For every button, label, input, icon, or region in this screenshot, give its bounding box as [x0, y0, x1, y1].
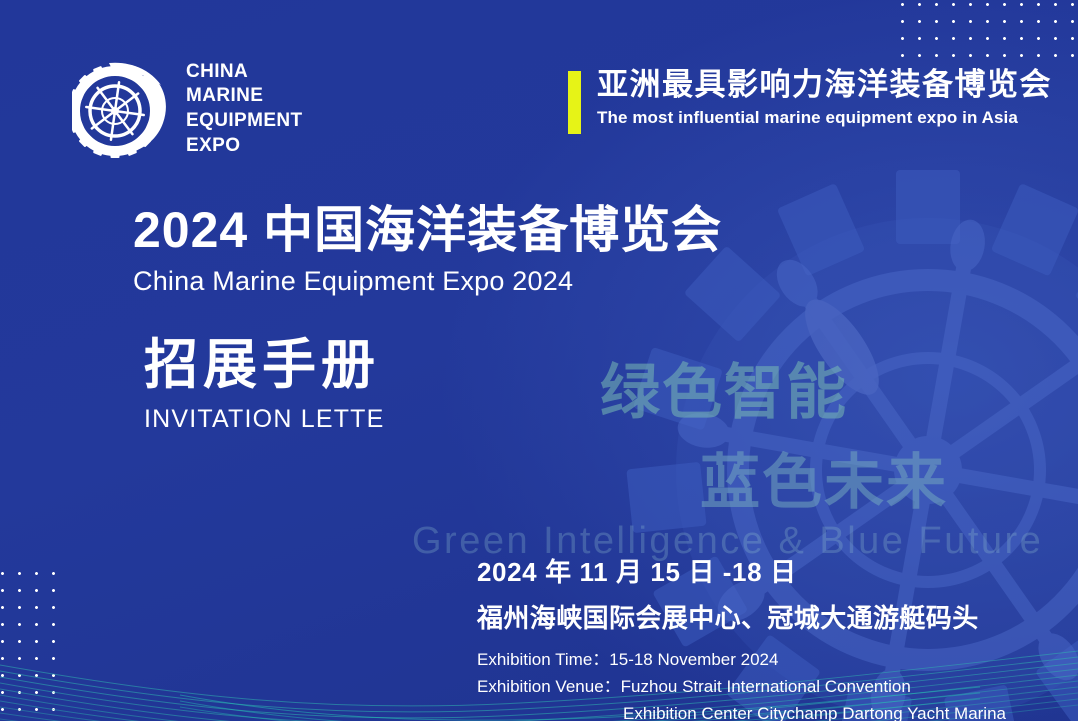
exhibition-venue-label: Exhibition Venue：	[477, 677, 621, 696]
exhibition-venue-line: Exhibition Venue：Fuzhou Strait Internati…	[477, 674, 1006, 701]
subtitle-chinese: 招展手册	[144, 336, 385, 395]
page-title-chinese: 2024 中国海洋装备博览会	[133, 202, 722, 258]
slogan-line-2: 蓝色未来	[700, 434, 948, 521]
slogan-line-1: 绿色智能	[600, 344, 848, 431]
brand-logo: CHINA MARINE EQUIPMENT EXPO	[72, 55, 303, 163]
dot-grid-bottom-left-icon	[0, 563, 64, 721]
subtitle-block: 招展手册 INVITATION LETTE	[144, 336, 385, 434]
poster-header: CHINA MARINE EQUIPMENT EXPO 亚洲最具影响力海洋装备博…	[0, 0, 1078, 185]
accent-bar	[568, 71, 581, 134]
tagline-english: The most influential marine equipment ex…	[597, 108, 1052, 128]
exhibition-time-value: 15-18 November 2024	[609, 650, 778, 669]
logo-line-2: MARINE	[186, 84, 303, 109]
brand-logo-text: CHINA MARINE EQUIPMENT EXPO	[186, 60, 303, 159]
exhibition-time-label: Exhibition Time：	[477, 650, 609, 669]
exhibition-venue-value-2: Exhibition Center Citychamp Dartong Yach…	[477, 701, 1006, 721]
header-tagline: 亚洲最具影响力海洋装备博览会 The most influential mari…	[568, 68, 1052, 134]
logo-line-3: EQUIPMENT	[186, 109, 303, 134]
logo-line-4: EXPO	[186, 134, 303, 159]
event-info-block: 2024 年 11 月 15 日 -18 日 福州海峡国际会展中心、冠城大通游艇…	[477, 552, 1006, 721]
page-title-english: China Marine Equipment Expo 2024	[133, 266, 722, 297]
logo-line-1: CHINA	[186, 60, 303, 85]
gear-ship-wheel-logo-icon	[72, 55, 172, 163]
poster-canvas: CHINA MARINE EQUIPMENT EXPO 亚洲最具影响力海洋装备博…	[0, 0, 1078, 721]
subtitle-english: INVITATION LETTE	[144, 405, 385, 434]
exhibition-time-line: Exhibition Time：15-18 November 2024	[477, 647, 1006, 674]
main-title-block: 2024 中国海洋装备博览会 China Marine Equipment Ex…	[133, 202, 722, 297]
event-venue-chinese: 福州海峡国际会展中心、冠城大通游艇码头	[477, 598, 1006, 635]
event-info-english: Exhibition Time：15-18 November 2024 Exhi…	[477, 647, 1006, 721]
exhibition-venue-value-1: Fuzhou Strait International Convention	[621, 677, 911, 696]
event-date-chinese: 2024 年 11 月 15 日 -18 日	[477, 552, 1006, 589]
tagline-chinese: 亚洲最具影响力海洋装备博览会	[597, 68, 1052, 103]
